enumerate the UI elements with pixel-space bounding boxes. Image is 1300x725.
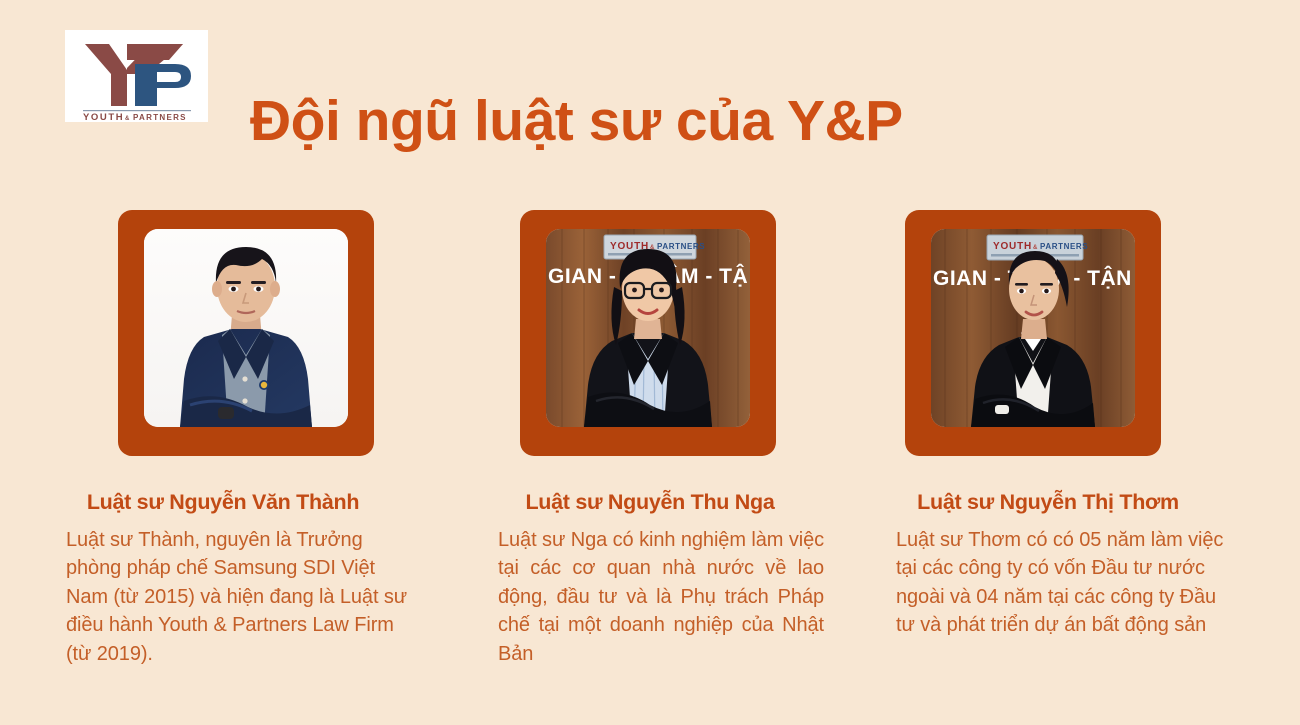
header: YOUTH & PARTNERS Đội ngũ luật sư của Y&P	[0, 0, 1300, 200]
lawyer-bio: Luật sư Thành, nguyên là Trưởng phòng ph…	[66, 526, 418, 668]
lawyer-card[interactable]: YOUTH & PARTNERS GIAN - T TÂM - TẬ	[480, 210, 810, 668]
lawyer-name: Luật sư Nguyễn Thị Thơm	[898, 490, 1198, 515]
svg-text:&: &	[1033, 245, 1038, 251]
lawyer-photo: YOUTH & PARTNERS GIAN - TẬ M - TẬN	[931, 229, 1135, 427]
lawyer-photo: YOUTH & PARTNERS GIAN - T TÂM - TẬ	[546, 229, 750, 427]
photo-frame: YOUTH & PARTNERS GIAN - TẬ M - TẬN	[905, 210, 1161, 456]
svg-text:PARTNERS: PARTNERS	[133, 113, 187, 122]
lawyer-card[interactable]: YOUTH & PARTNERS GIAN - TẬ M - TẬN	[868, 210, 1198, 640]
page-title: Đội ngũ luật sư của Y&P	[250, 92, 1050, 152]
photo-frame	[118, 210, 374, 456]
lawyer-name: Luật sư Nguyễn Thu Nga	[490, 490, 810, 515]
svg-text:PARTNERS: PARTNERS	[657, 242, 705, 251]
company-logo: YOUTH & PARTNERS	[65, 30, 208, 122]
lawyer-photo	[144, 229, 348, 427]
svg-text:&: &	[125, 116, 130, 122]
portrait-photo-3-icon: YOUTH & PARTNERS GIAN - TẬ M - TẬN	[931, 229, 1135, 427]
photo-frame: YOUTH & PARTNERS GIAN - T TÂM - TẬ	[520, 210, 776, 456]
lawyer-name: Luật sư Nguyễn Văn Thành	[58, 490, 388, 515]
lawyer-cards: Luật sư Nguyễn Văn Thành Luật sư Thành, …	[0, 210, 1300, 725]
lawyer-bio: Luật sư Thơm có có 05 năm làm việc tại c…	[896, 526, 1226, 640]
lawyer-bio: Luật sư Nga có kinh nghiệm làm việc tại …	[498, 526, 824, 668]
portrait-photo-1-icon	[144, 229, 348, 427]
slide-root: YOUTH & PARTNERS Đội ngũ luật sư của Y&P	[0, 0, 1300, 725]
logo-yp-icon: YOUTH & PARTNERS	[65, 30, 208, 122]
svg-text:YOUTH: YOUTH	[83, 112, 124, 122]
lawyer-card[interactable]: Luật sư Nguyễn Văn Thành Luật sư Thành, …	[58, 210, 388, 668]
portrait-photo-2-icon: YOUTH & PARTNERS GIAN - T TÂM - TẬ	[546, 229, 750, 427]
svg-text:YOUTH: YOUTH	[993, 241, 1032, 252]
svg-text:PARTNERS: PARTNERS	[1040, 242, 1088, 251]
